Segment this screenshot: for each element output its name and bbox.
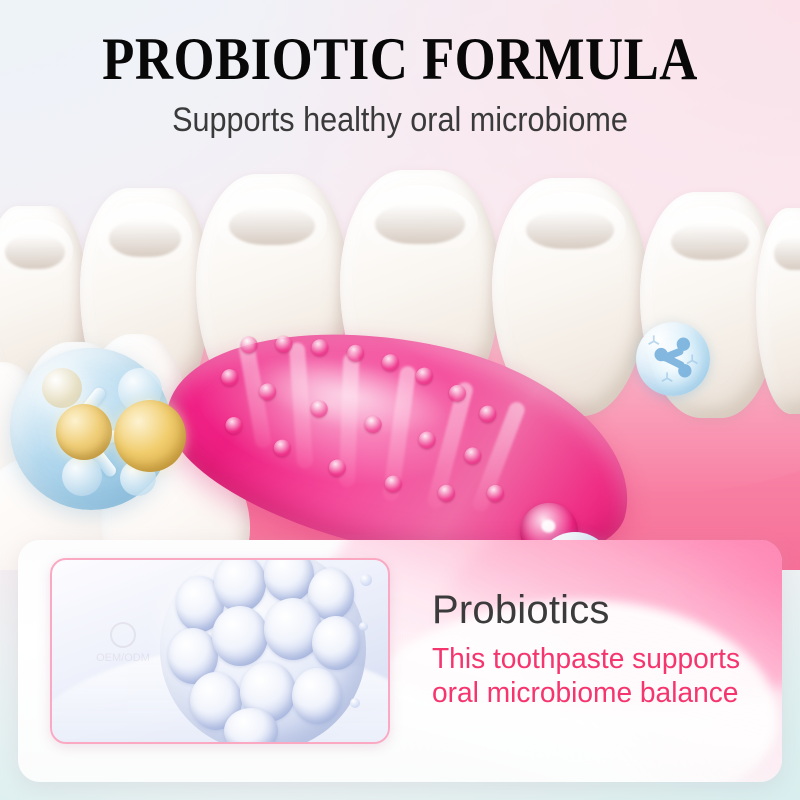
cell [312,616,360,670]
cell [264,558,314,602]
poster-root: PROBIOTIC FORMULA Supports healthy oral … [0,0,800,800]
probiotic-thumbnail[interactable]: OEM/ODM [50,558,390,744]
watermark-ring-icon [110,622,136,648]
molecule-node-gold [56,404,112,460]
watermark-label: OEM/ODM [96,652,150,664]
card-body: This toothpaste supports oral microbiome… [432,642,752,710]
probiotic-molecule-icon [636,322,710,396]
droplet [360,574,372,586]
card-body-line-2: oral microbiome balance [432,677,738,709]
tooth-groove [229,207,314,245]
thumbnail-watermark: OEM/ODM [80,622,166,678]
droplet [350,698,360,708]
molecule-node [62,456,102,496]
tooth-groove [774,237,800,270]
page-title: PROBIOTIC FORMULA [48,28,752,90]
info-copy: Probiotics This toothpaste supports oral… [432,588,762,710]
cell-cluster [160,558,366,744]
cell [212,606,268,666]
card-heading: Probiotics [432,588,762,632]
molecule-node [42,368,82,408]
tooth-groove [526,211,613,249]
tooth-groove [671,224,749,260]
mouth-illustration [0,150,800,570]
molecule-node-gold [114,400,186,472]
card-body-line-1: This toothpaste supports [432,643,740,675]
cell [292,668,342,724]
droplet [359,622,368,631]
tooth-groove [5,235,64,269]
info-panel: OEM/ODM Probiotics This toothpaste suppo… [18,540,782,782]
cell [214,558,266,612]
page-subtitle: Supports healthy oral microbiome [40,100,760,140]
tooth-groove [109,220,182,257]
tooth-groove [375,204,465,243]
probiotic-molecule-bubble [10,348,172,510]
